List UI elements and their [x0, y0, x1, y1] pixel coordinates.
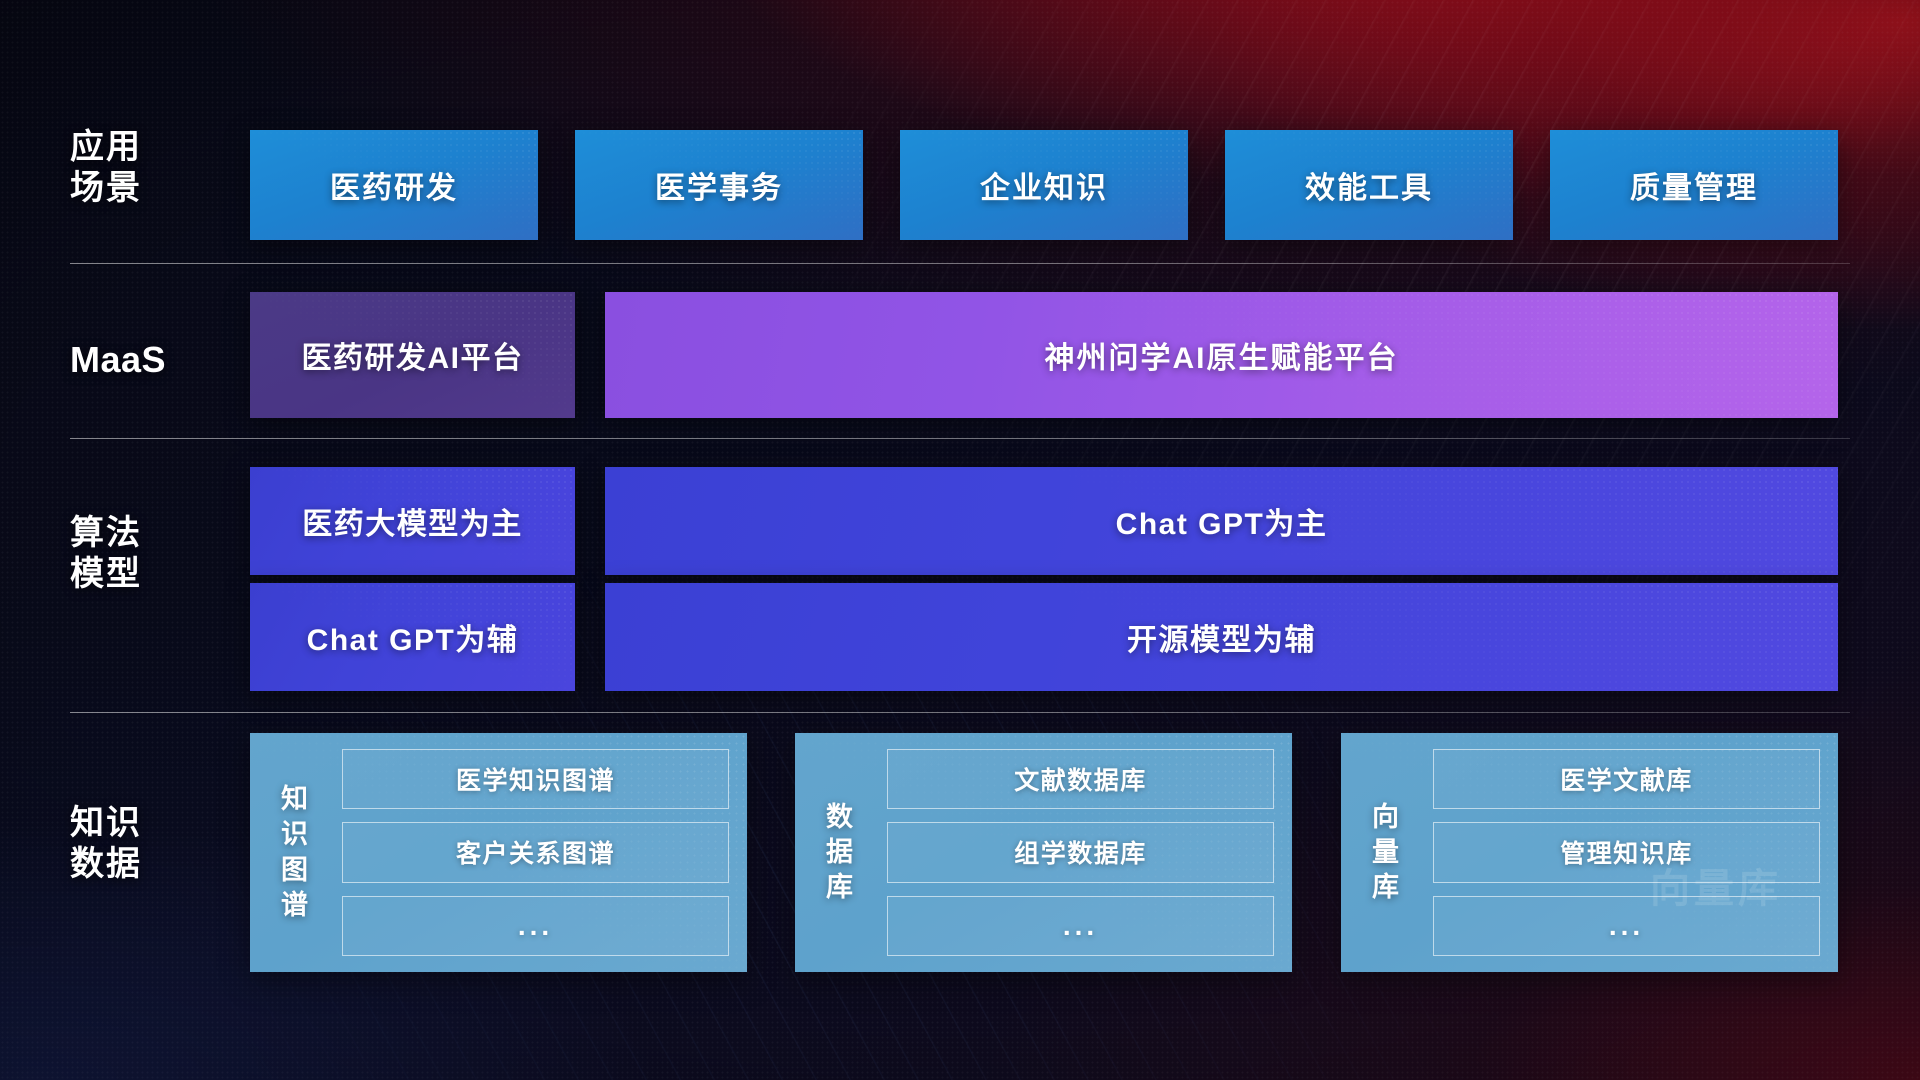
app-card-quality-management-label: 质量管理	[1630, 163, 1758, 207]
algo-card-chatgpt-primary[interactable]: Chat GPT为主	[605, 467, 1838, 575]
algo-card-pharma-llm-primary-label: 医药大模型为主	[302, 499, 523, 543]
row-label-algorithm-model: 算法 模型	[70, 513, 220, 596]
app-card-drug-rd[interactable]: 医药研发	[250, 130, 538, 240]
app-card-efficiency-tools[interactable]: 效能工具	[1225, 130, 1513, 240]
divider-after-application-scenario	[70, 263, 1850, 264]
algo-card-opensource-secondary[interactable]: 开源模型为辅	[605, 583, 1838, 691]
knowledge-group-database-title: 数 据 库	[809, 749, 871, 956]
app-card-medical-affairs[interactable]: 医学事务	[575, 130, 863, 240]
maas-card-drug-rd-ai-platform-label: 医药研发AI平台	[302, 333, 524, 377]
knowledge-group-knowledge-graph-items: 医学知识图谱 客户关系图谱 ...	[342, 749, 729, 956]
app-card-medical-affairs-label: 医学事务	[655, 163, 783, 207]
algo-card-opensource-secondary-label: 开源模型为辅	[1127, 615, 1316, 659]
row-label-maas: MaaS	[70, 338, 220, 382]
app-card-enterprise-knowledge[interactable]: 企业知识	[900, 130, 1188, 240]
knowledge-item-more-ellipsis[interactable]: ...	[887, 896, 1274, 956]
architecture-diagram: 应用 场景 医药研发 医学事务 企业知识 效能工具 质量管理 MaaS 医药研发…	[0, 0, 1920, 1080]
knowledge-group-database-items: 文献数据库 组学数据库 ...	[887, 749, 1274, 956]
divider-after-algorithm-model	[70, 712, 1850, 713]
slide-canvas: 应用 场景 医药研发 医学事务 企业知识 效能工具 质量管理 MaaS 医药研发…	[0, 0, 1920, 1080]
knowledge-item-medical-knowledge-graph[interactable]: 医学知识图谱	[342, 749, 729, 809]
knowledge-group-vector-store[interactable]: 向量库 向 量 库 医学文献库 管理知识库 ...	[1341, 733, 1838, 972]
knowledge-item-management-knowledge-store[interactable]: 管理知识库	[1433, 822, 1820, 882]
knowledge-item-customer-relation-graph[interactable]: 客户关系图谱	[342, 822, 729, 882]
algo-card-chatgpt-secondary-label: Chat GPT为辅	[307, 615, 519, 659]
row-label-knowledge-data: 知识 数据	[70, 803, 220, 886]
maas-card-shenzhou-wenxue-platform[interactable]: 神州问学AI原生赋能平台	[605, 292, 1838, 418]
app-card-quality-management[interactable]: 质量管理	[1550, 130, 1838, 240]
algo-card-pharma-llm-primary[interactable]: 医药大模型为主	[250, 467, 575, 575]
knowledge-group-vector-store-items: 医学文献库 管理知识库 ...	[1433, 749, 1820, 956]
knowledge-group-knowledge-graph-title: 知 识 图 谱	[264, 749, 326, 956]
app-card-drug-rd-label: 医药研发	[330, 163, 458, 207]
knowledge-item-more-ellipsis[interactable]: ...	[342, 896, 729, 956]
knowledge-item-medical-literature-store[interactable]: 医学文献库	[1433, 749, 1820, 809]
divider-after-maas	[70, 438, 1850, 439]
knowledge-item-literature-database[interactable]: 文献数据库	[887, 749, 1274, 809]
row-label-application-scenario: 应用 场景	[70, 127, 220, 210]
knowledge-item-omics-database[interactable]: 组学数据库	[887, 822, 1274, 882]
knowledge-group-database[interactable]: 数 据 库 文献数据库 组学数据库 ...	[795, 733, 1292, 972]
knowledge-group-vector-store-title: 向 量 库	[1355, 749, 1417, 956]
knowledge-group-knowledge-graph[interactable]: 知 识 图 谱 医学知识图谱 客户关系图谱 ...	[250, 733, 747, 972]
algo-card-chatgpt-primary-label: Chat GPT为主	[1116, 499, 1328, 543]
knowledge-item-more-ellipsis[interactable]: ...	[1433, 896, 1820, 956]
maas-card-drug-rd-ai-platform[interactable]: 医药研发AI平台	[250, 292, 575, 418]
app-card-efficiency-tools-label: 效能工具	[1305, 163, 1433, 207]
maas-card-shenzhou-wenxue-platform-label: 神州问学AI原生赋能平台	[1045, 333, 1399, 377]
algo-card-chatgpt-secondary[interactable]: Chat GPT为辅	[250, 583, 575, 691]
app-card-enterprise-knowledge-label: 企业知识	[980, 163, 1108, 207]
